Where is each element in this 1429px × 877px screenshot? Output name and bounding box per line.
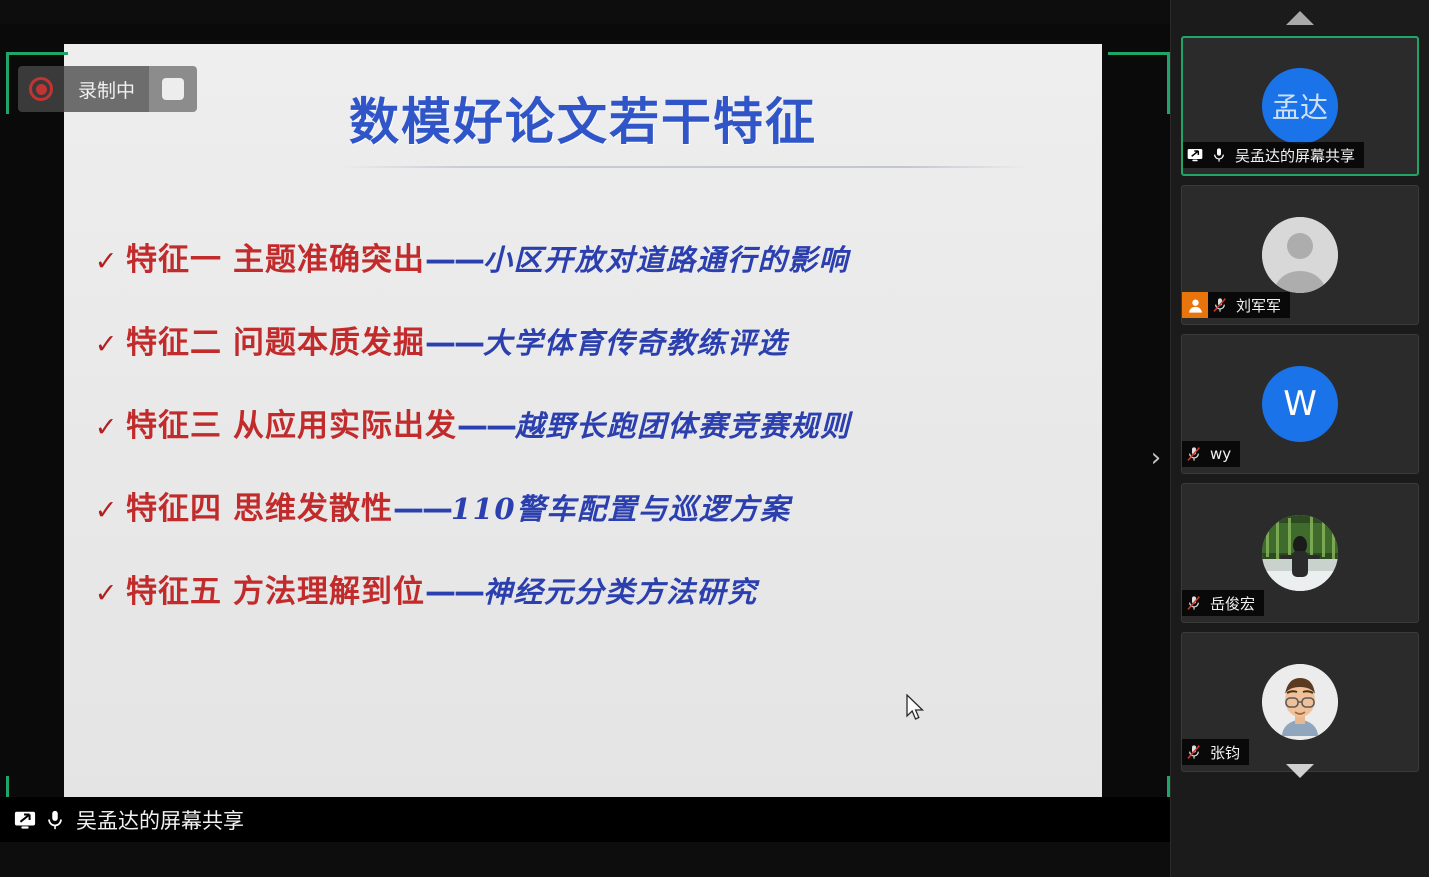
participant-tile[interactable]: 刘军军: [1181, 185, 1419, 325]
avatar: [1262, 217, 1338, 293]
bullet-example: 越野长跑团体赛竞赛规则: [515, 409, 851, 443]
mic-off-icon: [1208, 292, 1232, 318]
participant-namebar: 岳俊宏: [1182, 590, 1264, 616]
bullet-feature: 从应用实际出发: [233, 408, 457, 444]
focus-bracket-top-right: [1108, 52, 1170, 114]
bullet-dash: ——: [425, 325, 483, 361]
bullet-label: 特征五: [126, 574, 222, 610]
slide-bullet-1: ✓特征一主题准确突出——小区开放对道路通行的影响: [86, 234, 1092, 317]
bullet-example: 110警车配置与巡逻方案: [451, 492, 791, 526]
check-icon: ✓: [86, 578, 126, 609]
participant-namebar: 刘军军: [1182, 292, 1290, 318]
slide-bullet-2: ✓特征二问题本质发掘——大学体育传奇教练评选: [86, 317, 1092, 400]
expand-panel-chevron-icon[interactable]: ›: [1140, 436, 1172, 480]
check-icon: ✓: [86, 495, 126, 526]
bullet-feature: 方法理解到位: [233, 574, 425, 610]
bullet-label: 特征二: [126, 325, 222, 361]
mic-off-icon: [1182, 590, 1206, 616]
participant-name: 刘军军: [1232, 295, 1281, 316]
mic-on-icon: [40, 805, 70, 835]
bullet-example: 大学体育传奇教练评选: [483, 326, 788, 360]
bullet-label: 特征一: [126, 242, 222, 278]
screen-share-status-bar: 吴孟达的屏幕共享: [0, 797, 1170, 842]
participant-name: wy: [1206, 445, 1231, 463]
participant-tile[interactable]: 岳俊宏: [1181, 483, 1419, 623]
scroll-down-button[interactable]: [1171, 753, 1429, 789]
avatar: W: [1262, 366, 1338, 442]
participant-tile[interactable]: Wwy: [1181, 334, 1419, 474]
participant-name: 岳俊宏: [1206, 593, 1255, 614]
host-person-icon: [1182, 292, 1208, 318]
screen-share-owner-label: 吴孟达的屏幕共享: [70, 805, 244, 835]
scroll-up-button[interactable]: [1171, 0, 1429, 36]
recording-indicator[interactable]: 录制中: [18, 66, 197, 112]
slide-title: 数模好论文若干特征: [64, 82, 1102, 154]
check-icon: ✓: [86, 412, 126, 443]
check-icon: ✓: [86, 329, 126, 360]
participant-rail: 孟达吴孟达的屏幕共享刘军军Wwy岳俊宏张钧: [1170, 0, 1429, 877]
bullet-example: 神经元分类方法研究: [483, 575, 758, 609]
bullet-dash: ——: [425, 574, 483, 610]
participant-tile[interactable]: 孟达吴孟达的屏幕共享: [1181, 36, 1419, 176]
bullet-label: 特征三: [126, 408, 222, 444]
bullet-label: 特征四: [126, 491, 222, 527]
screen-share-icon: [10, 805, 40, 835]
bullet-dash: ——: [457, 408, 515, 444]
bullet-feature: 主题准确突出: [233, 242, 425, 278]
bullet-example: 小区开放对道路通行的影响: [483, 243, 849, 277]
mouse-cursor: [905, 694, 927, 724]
avatar: [1262, 664, 1338, 740]
record-circle-icon[interactable]: [18, 66, 64, 112]
slide-bullet-5: ✓特征五方法理解到位——神经元分类方法研究: [86, 566, 1092, 649]
meeting-window: 数模好论文若干特征 ✓特征一主题准确突出——小区开放对道路通行的影响✓特征二问题…: [0, 0, 1429, 877]
participant-name: 吴孟达的屏幕共享: [1231, 145, 1355, 166]
presentation-slide: 数模好论文若干特征 ✓特征一主题准确突出——小区开放对道路通行的影响✓特征二问题…: [64, 44, 1102, 824]
shared-screen-stage[interactable]: 数模好论文若干特征 ✓特征一主题准确突出——小区开放对道路通行的影响✓特征二问题…: [0, 24, 1170, 842]
participant-tile[interactable]: 张钧: [1181, 632, 1419, 772]
participant-namebar: wy: [1182, 441, 1240, 467]
bullet-feature: 问题本质发掘: [233, 325, 425, 361]
bullet-feature: 思维发散性: [233, 491, 393, 527]
recording-status-label: 录制中: [64, 66, 149, 112]
avatar: [1262, 515, 1338, 591]
slide-bullet-3: ✓特征三从应用实际出发——越野长跑团体赛竞赛规则: [86, 400, 1092, 483]
mic-on-icon: [1207, 142, 1231, 168]
slide-bullet-list: ✓特征一主题准确突出——小区开放对道路通行的影响✓特征二问题本质发掘——大学体育…: [86, 234, 1092, 649]
stop-square-icon[interactable]: [149, 66, 197, 112]
title-divider: [339, 166, 1029, 168]
screen-share-icon: [1183, 142, 1207, 168]
slide-bullet-4: ✓特征四思维发散性——110警车配置与巡逻方案: [86, 483, 1092, 566]
mic-off-icon: [1182, 441, 1206, 467]
participant-tiles: 孟达吴孟达的屏幕共享刘军军Wwy岳俊宏张钧: [1171, 36, 1429, 772]
triangle-up-icon: [1286, 11, 1314, 25]
avatar: 孟达: [1262, 68, 1338, 144]
participant-namebar: 吴孟达的屏幕共享: [1183, 142, 1364, 168]
bullet-dash: ——: [425, 242, 483, 278]
bullet-dash: ——: [393, 491, 451, 527]
check-icon: ✓: [86, 246, 126, 277]
triangle-down-icon: [1286, 764, 1314, 778]
